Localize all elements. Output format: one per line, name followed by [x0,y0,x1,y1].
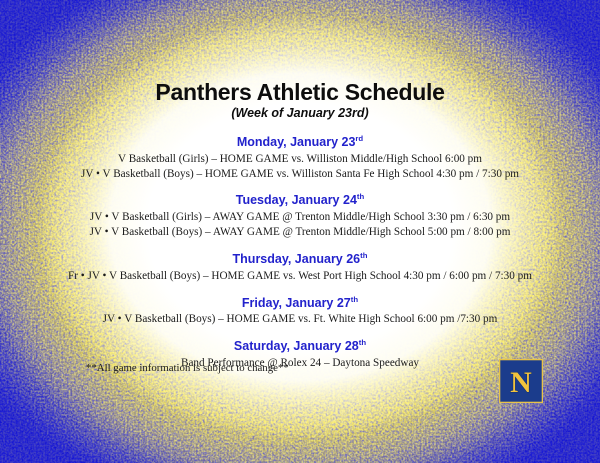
day-heading: Monday, January 23rd [0,134,600,151]
schedule-day-block: Tuesday, January 24th JV • V Basketball … [0,192,600,239]
day-heading-label: Friday, January 27 [242,296,351,310]
schedule-day-block: Monday, January 23rd V Basketball (Girls… [0,134,600,181]
day-ordinal-suffix: th [359,338,366,347]
event-line: JV • V Basketball (Girls) – AWAY GAME @ … [0,210,600,225]
event-line: JV • V Basketball (Boys) – AWAY GAME @ T… [0,225,600,240]
day-ordinal-suffix: th [357,192,364,201]
day-heading: Friday, January 27th [0,295,600,312]
day-heading-label: Saturday, January 28 [234,339,359,353]
page-title: Panthers Athletic Schedule [0,80,600,104]
schedule-day-block: Friday, January 27th JV • V Basketball (… [0,295,600,328]
event-line: V Basketball (Girls) – HOME GAME vs. Wil… [0,152,600,167]
svg-text:N: N [510,366,532,399]
day-ordinal-suffix: th [360,251,367,260]
schedule-day-block: Thursday, January 26th Fr • JV • V Baske… [0,251,600,284]
event-line: JV • V Basketball (Boys) – HOME GAME vs.… [0,312,600,327]
day-heading-label: Thursday, January 26 [233,252,361,266]
newberry-panthers-logo-icon: N [499,359,543,403]
day-heading: Saturday, January 28th [0,338,600,355]
schedule-list: Monday, January 23rd V Basketball (Girls… [0,134,600,382]
day-ordinal-suffix: th [351,294,358,303]
event-line: Fr • JV • V Basketball (Boys) – HOME GAM… [0,269,600,284]
day-heading-label: Tuesday, January 24 [236,193,357,207]
flyer-page: Panthers Athletic Schedule (Week of Janu… [0,0,600,463]
logo-letter-n: N [510,366,532,399]
day-heading: Thursday, January 26th [0,251,600,268]
day-heading: Tuesday, January 24th [0,192,600,209]
day-heading-label: Monday, January 23 [237,135,356,149]
disclaimer-note: **All game information is subject to cha… [86,362,289,374]
day-ordinal-suffix: rd [355,134,363,143]
event-line: JV • V Basketball (Boys) – HOME GAME vs.… [0,167,600,182]
page-subtitle: (Week of January 23rd) [0,106,600,120]
